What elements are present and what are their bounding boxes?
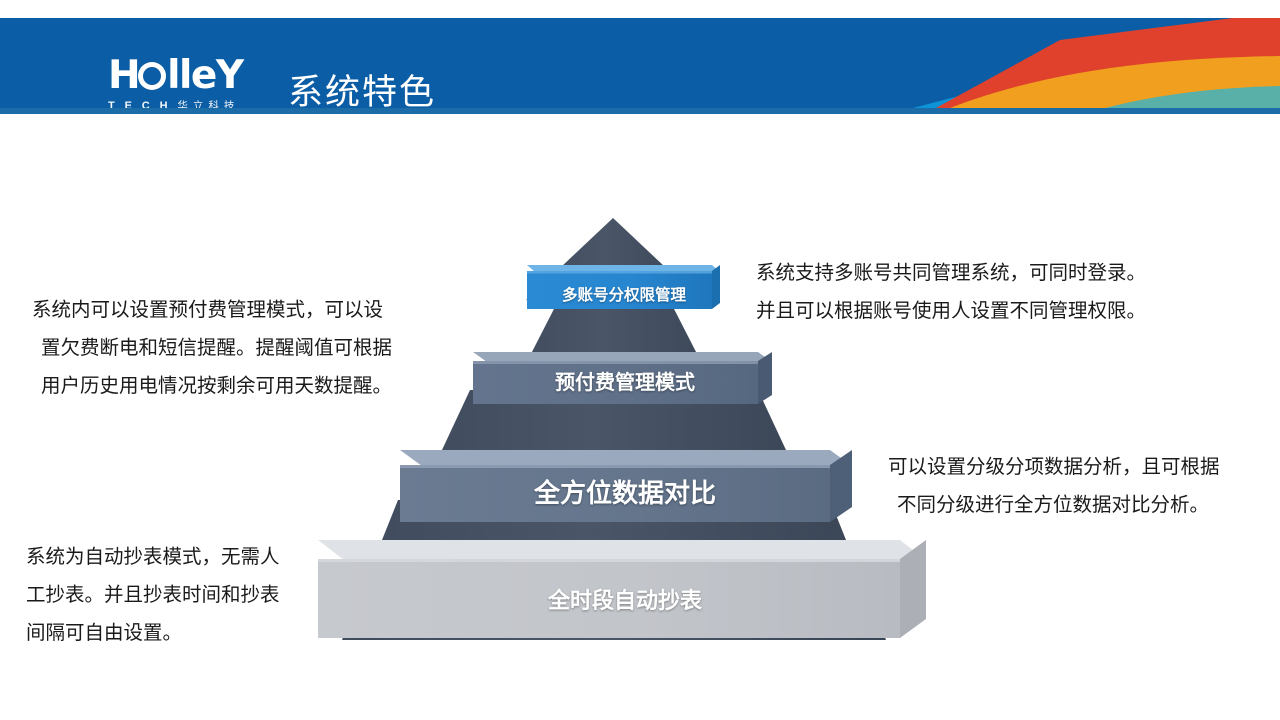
auto-meter-callout-line-1: 系统为自动抄表模式，无需人	[26, 538, 280, 576]
multi-account-callout-line-1: 系统支持多账号共同管理系统，可同时登录。	[756, 254, 1146, 292]
data-compare-callout: 可以设置分级分项数据分析，且可根据 不同分级进行全方位数据对比分析。	[888, 448, 1220, 524]
logo-letter-h: H	[108, 53, 139, 98]
logo-letter-y: Y	[216, 53, 243, 98]
multi-account-callout: 系统支持多账号共同管理系统，可同时登录。 并且可以根据账号使用人设置不同管理权限…	[756, 254, 1146, 330]
header-underline-divider	[0, 108, 1280, 114]
logo-letters-lle: lle	[167, 53, 216, 98]
pyramid-level-4-label: 全时段自动抄表	[330, 583, 920, 615]
multi-account-callout-line-2: 并且可以根据账号使用人设置不同管理权限。	[756, 292, 1146, 330]
pyramid-level-3-label: 全方位数据对比	[410, 473, 840, 510]
prepaid-callout-line-2: 置欠费断电和短信提醒。提醒阈值可根据	[32, 329, 392, 367]
pyramid-level-2	[473, 352, 772, 404]
slide-header-bar: HlleY T E C H 华立科技 系统特色	[0, 18, 1280, 114]
prepaid-callout: 系统内可以设置预付费管理模式，可以设 置欠费断电和短信提醒。提醒阈值可根据 用户…	[32, 291, 392, 405]
prepaid-callout-line-1: 系统内可以设置预付费管理模式，可以设	[32, 291, 392, 329]
pyramid-level-2-label: 预付费管理模式	[470, 366, 780, 395]
logo-ring-icon	[138, 62, 168, 92]
data-compare-callout-line-2: 不同分级进行全方位数据对比分析。	[888, 486, 1220, 524]
data-compare-callout-line-1: 可以设置分级分项数据分析，且可根据	[888, 448, 1220, 486]
holley-logo: HlleY T E C H 华立科技	[108, 56, 268, 114]
header-swoosh-graphic	[740, 18, 1280, 114]
prepaid-callout-line-3: 用户历史用电情况按剩余可用天数提醒。	[32, 367, 392, 405]
pyramid-level-4	[318, 540, 926, 638]
logo-wordmark: HlleY	[108, 56, 268, 96]
auto-meter-callout-line-3: 间隔可自由设置。	[26, 614, 280, 652]
page-title: 系统特色	[288, 64, 436, 114]
auto-meter-callout-line-2: 工抄表。并且抄表时间和抄表	[26, 576, 280, 614]
pyramid-level-1	[527, 265, 720, 309]
auto-meter-callout: 系统为自动抄表模式，无需人 工抄表。并且抄表时间和抄表 间隔可自由设置。	[26, 538, 280, 652]
pyramid-level-3	[400, 450, 852, 522]
pyramid-level-1-label: 多账号分权限管理	[520, 283, 728, 305]
